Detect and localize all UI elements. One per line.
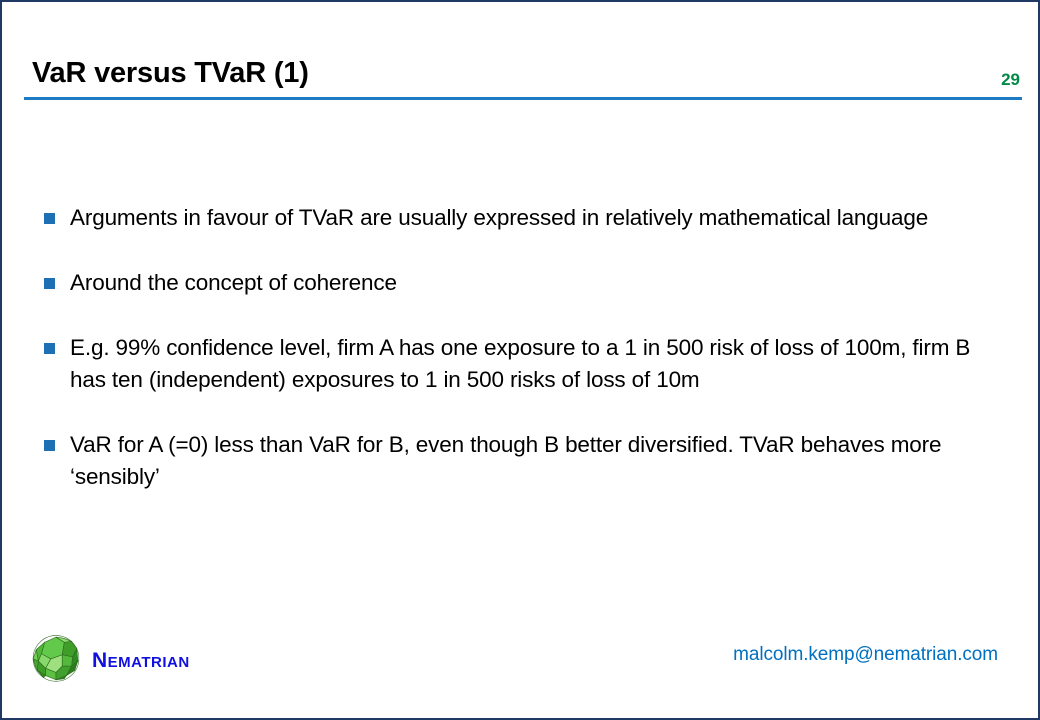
title-divider xyxy=(24,97,1022,100)
list-item: E.g. 99% confidence level, firm A has on… xyxy=(42,332,992,396)
title-block: VaR versus TVaR (1) 29 xyxy=(2,2,1040,108)
page-title: VaR versus TVaR (1) xyxy=(32,57,309,90)
contact-email[interactable]: malcolm.kemp@nematrian.com xyxy=(733,644,998,666)
list-item-text: Around the concept of coherence xyxy=(70,267,992,299)
bullet-square-icon xyxy=(44,343,55,354)
list-item: VaR for A (=0) less than VaR for B, even… xyxy=(42,429,992,493)
list-item: Arguments in favour of TVaR are usually … xyxy=(42,202,992,234)
bullet-list: Arguments in favour of TVaR are usually … xyxy=(42,202,992,493)
list-item-text: E.g. 99% confidence level, firm A has on… xyxy=(70,332,992,396)
brand-name: Nematrian xyxy=(92,650,190,671)
list-item-text: VaR for A (=0) less than VaR for B, even… xyxy=(70,429,992,493)
list-item: Around the concept of coherence xyxy=(42,267,992,299)
bullet-square-icon xyxy=(44,213,55,224)
brand-logo-group: Nematrian xyxy=(30,634,190,686)
list-item-text: Arguments in favour of TVaR are usually … xyxy=(70,202,992,234)
slide-footer: Nematrian malcolm.kemp@nematrian.com xyxy=(2,626,1040,718)
bullet-square-icon xyxy=(44,278,55,289)
bullet-square-icon xyxy=(44,440,55,451)
slide: VaR versus TVaR (1) 29 Arguments in favo… xyxy=(0,0,1040,720)
green-polyhedron-sphere-icon xyxy=(30,634,82,686)
page-number: 29 xyxy=(1001,70,1020,90)
